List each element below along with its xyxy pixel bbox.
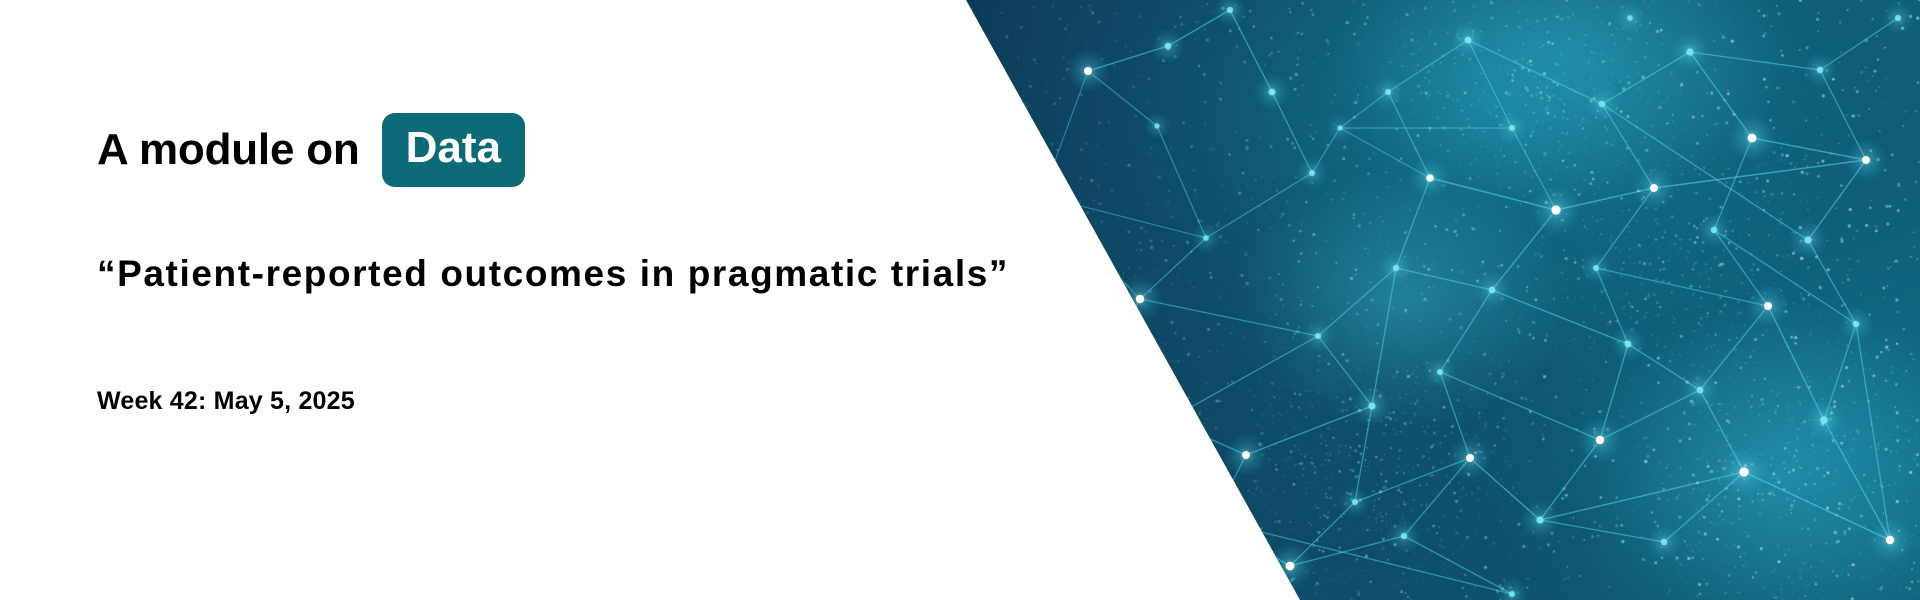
title-text-column: A module on Data “Patient-reported outco… <box>0 0 960 600</box>
headline-row: A module on Data <box>97 113 525 187</box>
subtitle-quote: “Patient-reported outcomes in pragmatic … <box>97 253 1009 295</box>
title-slide: A module on Data “Patient-reported outco… <box>0 0 1920 600</box>
topic-badge: Data <box>382 113 525 187</box>
headline-lead-text: A module on <box>97 128 360 172</box>
dateline: Week 42: May 5, 2025 <box>97 387 355 416</box>
